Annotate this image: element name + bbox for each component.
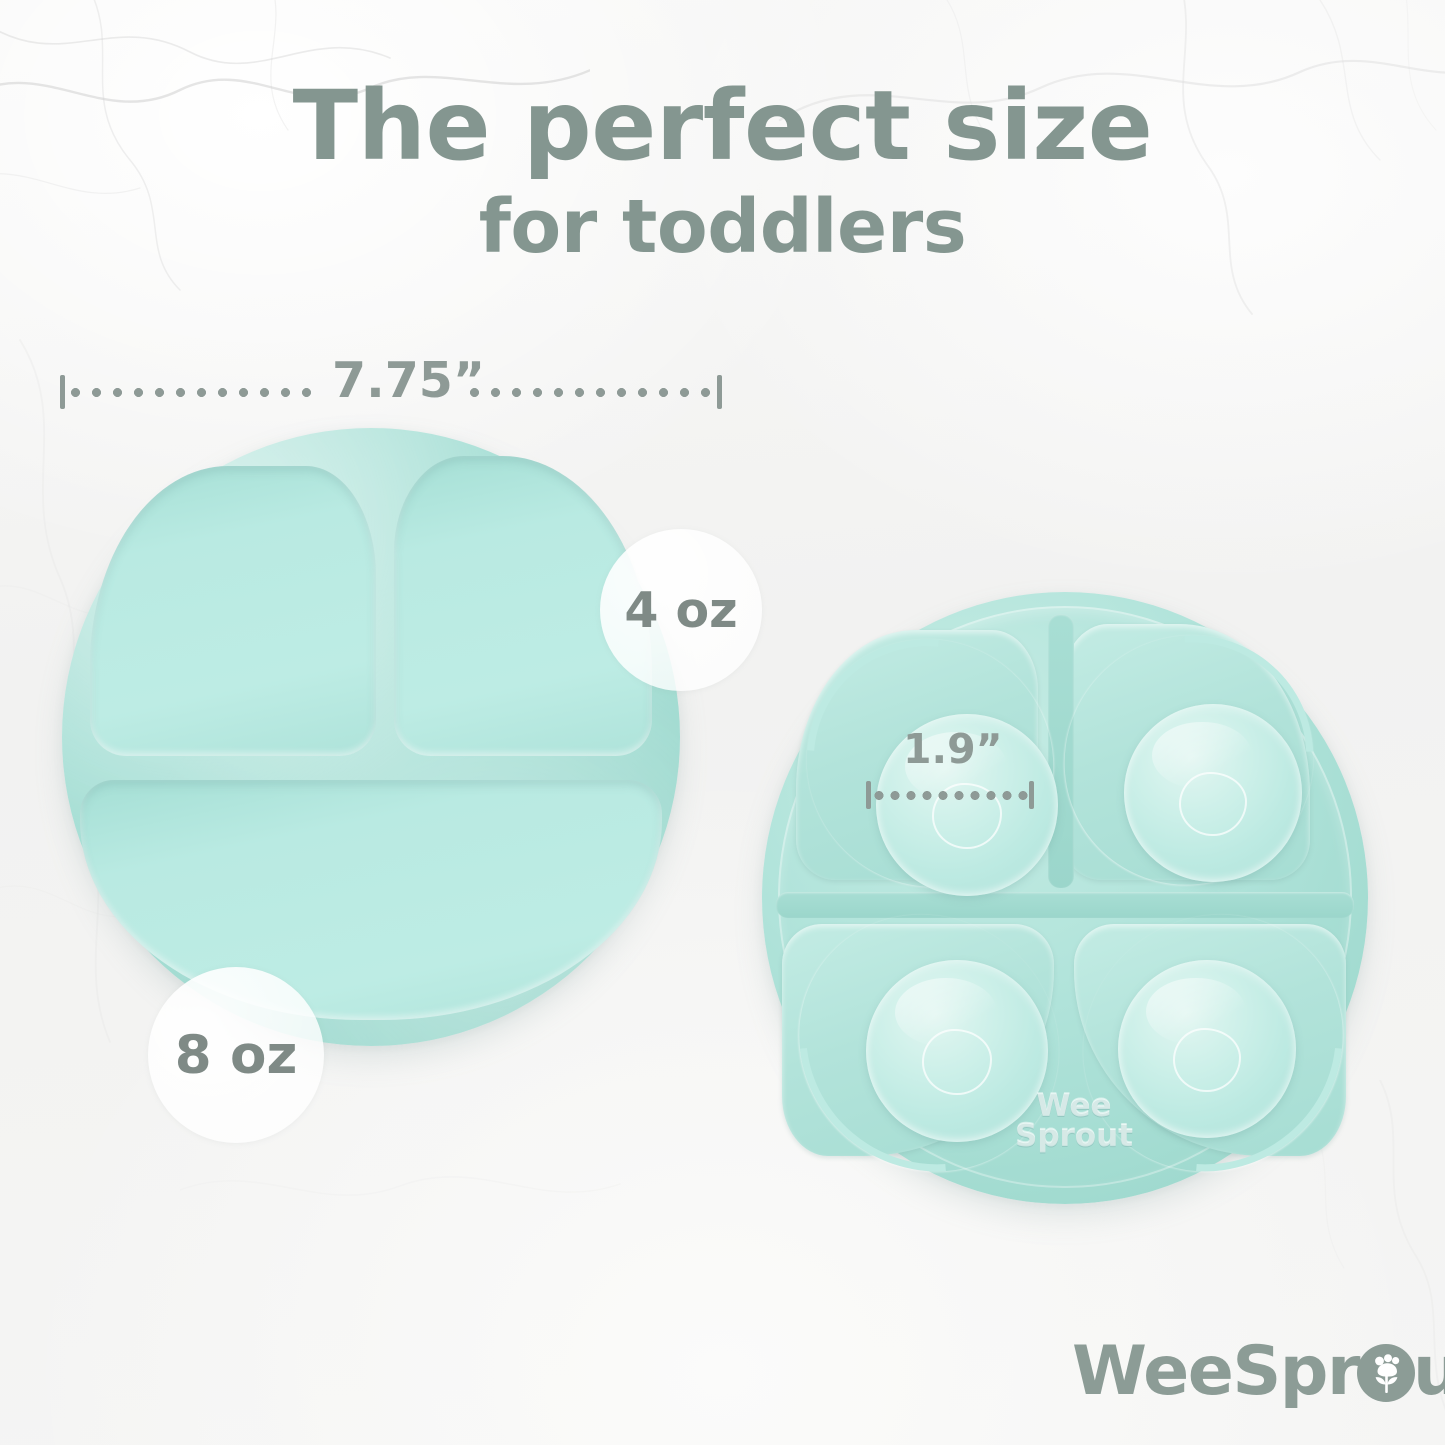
suction-cup-bottom-right — [1118, 960, 1296, 1138]
dimension-dots-right — [464, 388, 717, 397]
dimension-dots — [871, 791, 1029, 800]
backplate-channel-horizontal — [776, 892, 1354, 918]
brand-wordmark-part-1: WeeSpr — [1072, 1338, 1359, 1406]
page-title-line-1: The perfect size — [0, 78, 1445, 174]
suction-cup-width-dimension-line — [866, 780, 1034, 810]
suction-cup-gloss — [895, 978, 997, 1047]
brand-logo: WeeSpr ut ® — [1072, 1338, 1445, 1406]
product-infographic: The perfect size for toddlers 7.75” — [0, 0, 1445, 1445]
suction-cup-bottom-left — [866, 960, 1048, 1142]
capacity-callout-8oz: 8 oz — [148, 967, 324, 1143]
suction-cup-gloss — [1152, 722, 1252, 790]
divided-toddler-plate-back: Wee Sprout — [762, 592, 1368, 1204]
sprout-footprint-icon — [1357, 1344, 1415, 1402]
dimension-dots-left — [65, 388, 318, 397]
dimension-end-cap-right — [717, 375, 722, 409]
plate-width-label: 7.75” — [332, 352, 485, 409]
suction-cup-gloss — [1146, 978, 1246, 1046]
plate-compartment-bottom — [80, 780, 662, 1020]
brand-wordmark-part-2: ut — [1413, 1338, 1445, 1406]
page-title-line-2: for toddlers — [0, 190, 1445, 264]
suction-cup-top-right — [1124, 704, 1302, 882]
dimension-end-cap-right — [1029, 781, 1034, 809]
suction-cup-width-label: 1.9” — [903, 725, 1003, 773]
divided-toddler-plate-front — [62, 428, 680, 1046]
plate-compartment-upper-left — [90, 466, 376, 756]
capacity-callout-4oz: 4 oz — [600, 529, 762, 691]
